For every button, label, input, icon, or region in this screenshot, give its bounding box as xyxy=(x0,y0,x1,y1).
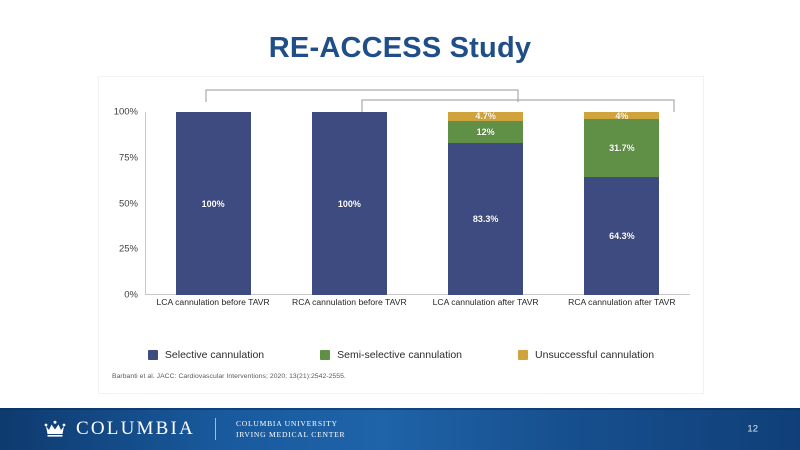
stacked-bar-lca-after[interactable]: 83.3% 12% 4.7% xyxy=(448,112,523,295)
slide-root: RE-ACCESS Study 100% 75% 50% 25% 0% 100% xyxy=(0,0,800,450)
footer-top-edge xyxy=(0,408,800,410)
legend-item-unsuccessful[interactable]: Unsuccessful cannulation xyxy=(518,349,654,361)
segment-semiselective-3: 31.7% xyxy=(584,119,659,177)
segment-label-unsuccessful-3: 4% xyxy=(615,111,628,121)
columbia-brand: COLUMBIA COLUMBIA UNIVERSITY IRVING MEDI… xyxy=(44,418,345,440)
y-tick-50: 50% xyxy=(119,198,138,209)
legend-item-semiselective[interactable]: Semi-selective cannulation xyxy=(320,349,462,361)
segment-label-unsuccessful-2: 4.7% xyxy=(475,111,496,121)
legend-label-unsuccessful: Unsuccessful cannulation xyxy=(535,349,654,361)
segment-unsuccessful-2: 4.7% xyxy=(448,112,523,121)
x-label-0: LCA cannulation before TAVR xyxy=(145,297,281,317)
segment-label-selective-3: 64.3% xyxy=(609,231,635,241)
bar-slot-3: 64.3% 31.7% 4% xyxy=(554,112,690,295)
y-tick-75: 75% xyxy=(119,152,138,163)
segment-selective-3: 64.3% xyxy=(584,177,659,295)
segment-label-selective-2: 83.3% xyxy=(473,214,499,224)
legend-item-selective[interactable]: Selective cannulation xyxy=(148,349,264,361)
y-tick-0: 0% xyxy=(124,290,138,301)
chart-legend: Selective cannulation Semi-selective can… xyxy=(98,344,704,366)
segment-semiselective-2: 12% xyxy=(448,121,523,143)
segment-label-semiselective-3: 31.7% xyxy=(609,143,635,153)
stacked-bar-rca-after[interactable]: 64.3% 31.7% 4% xyxy=(584,112,659,295)
brand-subtitle: COLUMBIA UNIVERSITY IRVING MEDICAL CENTE… xyxy=(236,419,345,439)
legend-swatch-unsuccessful xyxy=(518,350,528,360)
brand-subtitle-line2: IRVING MEDICAL CENTER xyxy=(236,430,345,439)
page-title: RE-ACCESS Study xyxy=(0,32,800,65)
x-axis-labels: LCA cannulation before TAVR RCA cannulat… xyxy=(145,297,690,317)
bar-slot-0: 100% xyxy=(145,112,281,295)
bar-slot-1: 100% xyxy=(281,112,417,295)
bar-slot-2: 83.3% 12% 4.7% xyxy=(418,112,554,295)
bar-group: 100% 100% 83.3% xyxy=(145,112,690,295)
segment-label-selective-0: 100% xyxy=(202,199,225,209)
legend-swatch-semiselective xyxy=(320,350,330,360)
segment-unsuccessful-3: 4% xyxy=(584,112,659,119)
citation-text: Barbanti et al. JACC: Cardiovascular Int… xyxy=(112,373,346,380)
plot-area: 100% 75% 50% 25% 0% 100% xyxy=(145,112,690,295)
segment-label-selective-1: 100% xyxy=(338,199,361,209)
y-tick-100: 100% xyxy=(114,107,138,118)
brand-wordmark: COLUMBIA xyxy=(76,418,195,440)
stacked-bar-chart: 100% 75% 50% 25% 0% 100% xyxy=(98,76,704,321)
brand-subtitle-line1: COLUMBIA UNIVERSITY xyxy=(236,419,345,428)
slide-footer: COLUMBIA COLUMBIA UNIVERSITY IRVING MEDI… xyxy=(0,408,800,450)
crown-icon xyxy=(44,419,66,439)
y-tick-25: 25% xyxy=(119,244,138,255)
page-number: 12 xyxy=(747,424,758,435)
x-label-1: RCA cannulation before TAVR xyxy=(281,297,417,317)
legend-swatch-selective xyxy=(148,350,158,360)
brand-divider xyxy=(215,418,216,440)
segment-label-semiselective-2: 12% xyxy=(477,127,495,137)
stacked-bar-rca-before[interactable]: 100% xyxy=(312,112,387,295)
x-label-2: LCA cannulation after TAVR xyxy=(418,297,554,317)
stacked-bar-lca-before[interactable]: 100% xyxy=(176,112,251,295)
segment-selective-1: 100% xyxy=(312,112,387,295)
legend-label-semiselective: Semi-selective cannulation xyxy=(337,349,462,361)
x-label-3: RCA cannulation after TAVR xyxy=(554,297,690,317)
segment-selective-0: 100% xyxy=(176,112,251,295)
legend-label-selective: Selective cannulation xyxy=(165,349,264,361)
segment-selective-2: 83.3% xyxy=(448,143,523,295)
